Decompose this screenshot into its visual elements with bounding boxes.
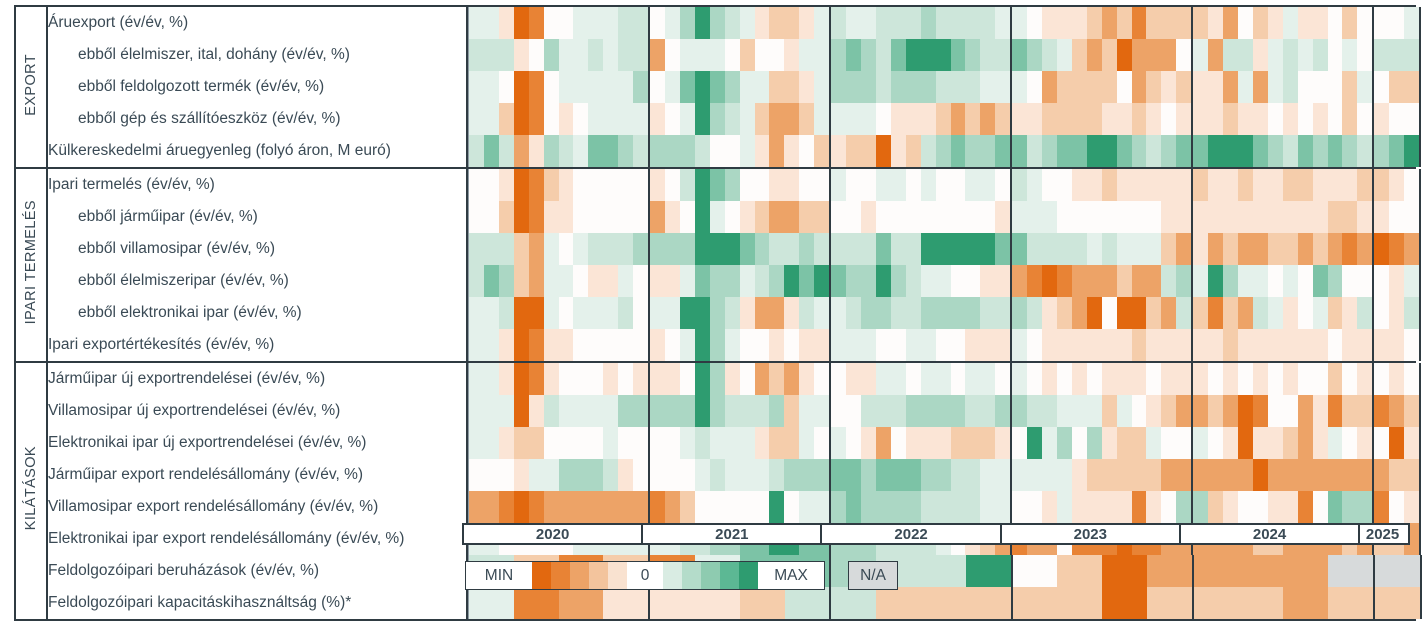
heatmap-cell — [1208, 135, 1223, 167]
heatmap-cell — [995, 297, 1010, 329]
heatmap-cell — [633, 297, 648, 329]
heatmap-cell — [1238, 427, 1253, 459]
heatmap-cell — [499, 297, 514, 329]
heatmap-cell — [1328, 587, 1373, 619]
heatmap-cell — [921, 71, 936, 103]
heatmap-cell — [1374, 103, 1389, 135]
heatmap-cell — [1268, 427, 1283, 459]
year-axis: 202020212022202320242025 — [462, 523, 1410, 545]
heatmap-cell — [650, 169, 665, 201]
heatmap-cell — [755, 7, 770, 39]
heatmap-cell — [831, 135, 846, 167]
heatmap-year-block-2024 — [1193, 329, 1374, 361]
heatmap-cell — [1132, 459, 1147, 491]
heatmap-cell — [891, 491, 906, 523]
table-row: Külkereskedelmi áruegyenleg (folyó áron,… — [15, 135, 1416, 168]
heatmap-cell — [1283, 265, 1298, 297]
heatmap-cell — [1298, 459, 1313, 491]
heatmap-year-block-2024 — [1193, 201, 1374, 233]
heatmap-cell — [1328, 169, 1343, 201]
heatmap-cell — [980, 363, 995, 395]
heatmap-cell — [799, 329, 814, 361]
heatmap-cell — [1342, 329, 1357, 361]
heatmap-year-block-2020 — [468, 103, 650, 135]
heatmap-cell — [514, 103, 529, 135]
heatmap-cell — [573, 491, 588, 523]
heatmap-cell — [1117, 427, 1132, 459]
heatmap-cell — [559, 7, 574, 39]
heatmap-cell — [1027, 233, 1042, 265]
table-row: ebből elektronikai ipar (év/év, %) — [15, 297, 1416, 329]
heatmap-cell — [1357, 491, 1372, 523]
heatmap-cell — [588, 71, 603, 103]
heatmap-cell — [1298, 265, 1313, 297]
heatmap-cell — [588, 169, 603, 201]
heatmap-cell — [1132, 329, 1147, 361]
heatmap-cell — [876, 587, 921, 619]
heatmap-cell — [1027, 427, 1042, 459]
year-tick-2022: 2022 — [822, 525, 1001, 543]
heatmap-cell — [1027, 265, 1042, 297]
heatmap-cell — [1253, 427, 1268, 459]
heatmap-cell — [695, 135, 710, 167]
heatmap-cell — [995, 459, 1010, 491]
heatmap-cell — [1389, 233, 1404, 265]
heatmap-cell — [725, 71, 740, 103]
heatmap-cell — [906, 265, 921, 297]
heatmap-year-block-2025 — [1375, 555, 1422, 587]
heatmap-cell — [1223, 363, 1238, 395]
heatmap-cell — [831, 71, 846, 103]
heatmap-cell — [1404, 363, 1419, 395]
heatmap-cell — [936, 39, 951, 71]
heatmap-cell — [936, 265, 951, 297]
heatmap-cell — [665, 201, 680, 233]
heatmap-cell — [1012, 233, 1027, 265]
heatmap-cell — [846, 7, 861, 39]
legend: MIN 0 MAX N/A — [465, 561, 898, 590]
heatmap-year-block-2021 — [650, 135, 831, 167]
heatmap-cell — [1357, 71, 1372, 103]
heatmap-cell — [951, 39, 966, 71]
heatmap-year-block-2023 — [1012, 7, 1193, 39]
heatmap-cell — [469, 201, 484, 233]
heatmap-cell — [936, 201, 951, 233]
heatmap-cell — [784, 201, 799, 233]
heatmap-cell — [831, 491, 846, 523]
heatmap-cell — [469, 427, 484, 459]
heatmap-cell — [1298, 135, 1313, 167]
heatmap-year-block-2024 — [1194, 555, 1375, 587]
heatmap-cell — [755, 427, 770, 459]
heatmap-cell — [1328, 7, 1343, 39]
heatmap-cell — [1374, 395, 1389, 427]
heatmap-cell — [951, 7, 966, 39]
heatmap-cell — [1238, 395, 1253, 427]
heatmap-cell — [529, 459, 544, 491]
heatmap-cell — [603, 7, 618, 39]
heatmap-cell — [1102, 491, 1117, 523]
heatmap-cell — [603, 297, 618, 329]
heatmap-cell — [484, 39, 499, 71]
heatmap-cell — [469, 71, 484, 103]
row-label: Villamosipar export rendelésállomány (év… — [47, 491, 467, 523]
heatmap-cell — [1072, 169, 1087, 201]
heatmap-cell — [1238, 71, 1253, 103]
heatmap-cell — [1313, 363, 1328, 395]
heatmap-cell — [1342, 39, 1357, 71]
heatmap-cell — [1283, 233, 1298, 265]
heatmap-cell — [529, 297, 544, 329]
heatmap-row-strip — [468, 265, 1416, 297]
heatmap-cell — [965, 103, 980, 135]
heatmap-cell — [680, 201, 695, 233]
heatmap-cell — [906, 103, 921, 135]
heatmap-cell — [1146, 363, 1161, 395]
heatmap-cell — [1238, 169, 1253, 201]
heatmap-cell — [573, 169, 588, 201]
heatmap-cell — [1374, 265, 1389, 297]
heatmap-cell — [484, 459, 499, 491]
heatmap-cell — [1208, 363, 1223, 395]
heatmap-cell — [695, 491, 710, 523]
heatmap-cell — [1389, 363, 1404, 395]
heatmap-cell — [891, 103, 906, 135]
heatmap-cell — [755, 169, 770, 201]
heatmap-cell — [1342, 233, 1357, 265]
heatmap-cell — [665, 7, 680, 39]
heatmap-cell — [680, 491, 695, 523]
heatmap-cell — [499, 169, 514, 201]
table-row: Járműipar export rendelésállomány (év/év… — [15, 459, 1416, 491]
heatmap-cell — [633, 459, 648, 491]
heatmap-cell — [1375, 587, 1420, 619]
heatmap-cell — [665, 363, 680, 395]
heatmap-year-block-2022 — [831, 71, 1012, 103]
heatmap-cell — [1013, 555, 1058, 587]
heatmap-cell — [814, 427, 829, 459]
heatmap-cell — [1117, 7, 1132, 39]
heatmap-cell — [1161, 201, 1176, 233]
heatmap-cell — [1042, 427, 1057, 459]
heatmap-cell — [1404, 329, 1419, 361]
heatmap-cell — [1208, 169, 1223, 201]
row-heatmap — [467, 201, 1416, 233]
heatmap-cell — [1087, 363, 1102, 395]
heatmap-cell — [846, 297, 861, 329]
heatmap-cell — [740, 491, 755, 523]
heatmap-cell — [799, 459, 814, 491]
heatmap-cell — [633, 395, 648, 427]
heatmap-cell — [1193, 71, 1208, 103]
heatmap-cell — [1328, 233, 1343, 265]
group-label: IPARI TERMELÉS — [23, 200, 39, 324]
heatmap-cell — [980, 329, 995, 361]
heatmap-cell — [484, 201, 499, 233]
heatmap-cell — [906, 233, 921, 265]
heatmap-cell — [633, 135, 648, 167]
heatmap-year-block-2024 — [1193, 233, 1374, 265]
heatmap-cell — [936, 103, 951, 135]
legend-swatch — [589, 562, 608, 589]
heatmap-cell — [995, 103, 1010, 135]
heatmap-cell — [1012, 169, 1027, 201]
heatmap-cell — [814, 7, 829, 39]
heatmap-cell — [1357, 459, 1372, 491]
heatmap-cell — [559, 233, 574, 265]
heatmap-year-block-2022 — [831, 201, 1012, 233]
heatmap-cell — [936, 459, 951, 491]
heatmap-cell — [1161, 459, 1176, 491]
heatmap-cell — [906, 39, 921, 71]
heatmap-cell — [710, 169, 725, 201]
heatmap-cell — [633, 491, 648, 523]
heatmap-cell — [725, 233, 740, 265]
heatmap-cell — [1161, 135, 1176, 167]
heatmap-cell — [1374, 7, 1389, 39]
heatmap-cell — [1389, 39, 1404, 71]
heatmap-cell — [1342, 459, 1357, 491]
heatmap-year-block-2025 — [1374, 169, 1421, 201]
heatmap-cell — [1283, 39, 1298, 71]
heatmap-cell — [484, 233, 499, 265]
heatmap-cell — [618, 363, 633, 395]
heatmap-cell — [680, 459, 695, 491]
heatmap-year-block-2025 — [1375, 587, 1422, 619]
heatmap-cell — [603, 265, 618, 297]
heatmap-cell — [769, 103, 784, 135]
heatmap-cell — [1176, 329, 1191, 361]
heatmap-year-block-2023 — [1012, 201, 1193, 233]
heatmap-cell — [1268, 7, 1283, 39]
heatmap-cell — [769, 169, 784, 201]
heatmap-year-block-2022 — [831, 491, 1012, 523]
heatmap-cell — [695, 233, 710, 265]
heatmap-cell — [1161, 233, 1176, 265]
heatmap-year-block-2024 — [1193, 169, 1374, 201]
row-heatmap — [467, 103, 1416, 135]
heatmap-cell — [755, 491, 770, 523]
heatmap-cell — [1176, 169, 1191, 201]
row-label: ebből elektronikai ipar (év/év, %) — [47, 297, 467, 329]
heatmap-year-block-2022 — [831, 7, 1012, 39]
heatmap-cell — [1313, 265, 1328, 297]
heatmap-year-block-2021 — [650, 71, 831, 103]
heatmap-cell — [1253, 491, 1268, 523]
heatmap-cell — [514, 233, 529, 265]
heatmap-cell — [514, 39, 529, 71]
row-heatmap — [467, 427, 1416, 459]
heatmap-cell — [559, 329, 574, 361]
heatmap-cell — [861, 39, 876, 71]
heatmap-cell — [499, 395, 514, 427]
row-heatmap — [467, 329, 1416, 362]
legend-swatch — [720, 562, 739, 589]
heatmap-cell — [1027, 395, 1042, 427]
heatmap-cell — [1208, 103, 1223, 135]
heatmap-cell — [1087, 39, 1102, 71]
row-label: Villamosipar új exportrendelései (év/év,… — [47, 395, 467, 427]
heatmap-cell — [995, 329, 1010, 361]
heatmap-cell — [1298, 427, 1313, 459]
heatmap-cell — [1057, 103, 1072, 135]
heatmap-cell — [1404, 7, 1419, 39]
heatmap-cell — [1389, 395, 1404, 427]
heatmap-cell — [1298, 71, 1313, 103]
heatmap-cell — [529, 71, 544, 103]
heatmap-cell — [1389, 265, 1404, 297]
heatmap-cell — [1102, 201, 1117, 233]
heatmap-cell — [603, 201, 618, 233]
heatmap-cell — [514, 135, 529, 167]
heatmap-year-block-2023 — [1012, 395, 1193, 427]
legend-negative-swatches — [532, 562, 627, 589]
heatmap-cell — [876, 427, 891, 459]
heatmap-cell — [499, 427, 514, 459]
heatmap-cell — [1374, 135, 1389, 167]
heatmap-cell — [769, 265, 784, 297]
heatmap-row-strip — [468, 103, 1416, 135]
heatmap-cell — [1012, 395, 1027, 427]
heatmap-cell — [936, 233, 951, 265]
row-heatmap — [467, 71, 1416, 103]
heatmap-cell — [1374, 201, 1389, 233]
heatmap-cell — [1253, 363, 1268, 395]
heatmap-cell — [573, 201, 588, 233]
heatmap-cell — [1238, 491, 1253, 523]
heatmap-cell — [469, 297, 484, 329]
heatmap-cell — [814, 491, 829, 523]
heatmap-cell — [1013, 587, 1058, 619]
heatmap-cell — [618, 459, 633, 491]
heatmap-cell — [1117, 39, 1132, 71]
heatmap-year-block-2022 — [831, 329, 1012, 361]
heatmap-cell — [1283, 427, 1298, 459]
heatmap-cell — [769, 427, 784, 459]
heatmap-cell — [650, 297, 665, 329]
heatmap-cell — [618, 395, 633, 427]
heatmap-cell — [1042, 491, 1057, 523]
heatmap-cell — [1208, 265, 1223, 297]
heatmap-cell — [799, 363, 814, 395]
heatmap-cell — [1193, 491, 1208, 523]
heatmap-year-block-2023 — [1012, 169, 1193, 201]
heatmap-cell — [951, 71, 966, 103]
heatmap-cell — [966, 555, 1011, 587]
heatmap-cell — [921, 297, 936, 329]
heatmap-cell — [1374, 39, 1389, 71]
heatmap-cell — [1238, 297, 1253, 329]
heatmap-cell — [965, 135, 980, 167]
heatmap-cell — [891, 7, 906, 39]
heatmap-cell — [936, 297, 951, 329]
heatmap-cell — [1087, 103, 1102, 135]
row-label: Feldolgozóipari kapacitáskihasználtság (… — [47, 587, 467, 620]
heatmap-cell — [769, 395, 784, 427]
heatmap-cell — [1298, 395, 1313, 427]
heatmap-cell — [980, 135, 995, 167]
heatmap-cell — [1146, 103, 1161, 135]
heatmap-cell — [1057, 363, 1072, 395]
table-row: ebből járműipar (év/év, %) — [15, 201, 1416, 233]
heatmap-cell — [650, 103, 665, 135]
heatmap-year-block-2024 — [1193, 103, 1374, 135]
heatmap-cell — [710, 265, 725, 297]
heatmap-cell — [799, 169, 814, 201]
heatmap-cell — [1313, 39, 1328, 71]
heatmap-year-block-2025 — [1374, 39, 1421, 71]
heatmap-cell — [1357, 39, 1372, 71]
heatmap-cell — [1283, 491, 1298, 523]
heatmap-cell — [1328, 427, 1343, 459]
heatmap-cell — [995, 233, 1010, 265]
heatmap-cell — [603, 39, 618, 71]
heatmap-cell — [1176, 395, 1191, 427]
heatmap-cell — [980, 39, 995, 71]
heatmap-cell — [876, 297, 891, 329]
heatmap-year-block-2025 — [1374, 329, 1421, 361]
heatmap-cell — [1132, 169, 1147, 201]
heatmap-cell — [1042, 71, 1057, 103]
heatmap-cell — [846, 169, 861, 201]
heatmap-cell — [861, 297, 876, 329]
group-label: KILÁTÁSOK — [23, 446, 39, 530]
heatmap-cell — [799, 39, 814, 71]
heatmap-cell — [1357, 297, 1372, 329]
table-row: Ipari exportértékesítés (év/év, %) — [15, 329, 1416, 362]
heatmap-cell — [650, 427, 665, 459]
heatmap-cell — [1313, 329, 1328, 361]
heatmap-cell — [921, 491, 936, 523]
heatmap-cell — [1298, 491, 1313, 523]
heatmap-cell — [995, 169, 1010, 201]
heatmap-cell — [618, 491, 633, 523]
heatmap-cell — [1374, 297, 1389, 329]
heatmap-row-strip — [468, 71, 1416, 103]
heatmap-cell — [1146, 7, 1161, 39]
heatmap-cell — [484, 7, 499, 39]
heatmap-year-block-2021 — [650, 233, 831, 265]
heatmap-cell — [1208, 459, 1223, 491]
heatmap-cell — [725, 265, 740, 297]
heatmap-cell — [769, 71, 784, 103]
heatmap-cell — [1132, 39, 1147, 71]
heatmap-cell — [906, 459, 921, 491]
heatmap-cell — [529, 169, 544, 201]
heatmap-cell — [544, 169, 559, 201]
heatmap-cell — [1342, 395, 1357, 427]
heatmap-cell — [995, 71, 1010, 103]
heatmap-cell — [544, 71, 559, 103]
heatmap-cell — [680, 265, 695, 297]
heatmap-year-block-2023 — [1013, 555, 1194, 587]
heatmap-cell — [1404, 265, 1419, 297]
heatmap-cell — [650, 329, 665, 361]
heatmap-cell — [1239, 555, 1284, 587]
heatmap-year-block-2022 — [831, 297, 1012, 329]
heatmap-cell — [588, 7, 603, 39]
heatmap-cell — [1283, 201, 1298, 233]
heatmap-cell — [695, 427, 710, 459]
heatmap-cell — [1313, 491, 1328, 523]
heatmap-cell — [740, 7, 755, 39]
heatmap-cell — [1357, 363, 1372, 395]
year-tick-2025: 2025 — [1360, 525, 1405, 543]
heatmap-cell — [1042, 233, 1057, 265]
heatmap-cell — [861, 459, 876, 491]
heatmap-year-block-2023 — [1012, 491, 1193, 523]
heatmap-year-block-2022 — [831, 363, 1012, 395]
